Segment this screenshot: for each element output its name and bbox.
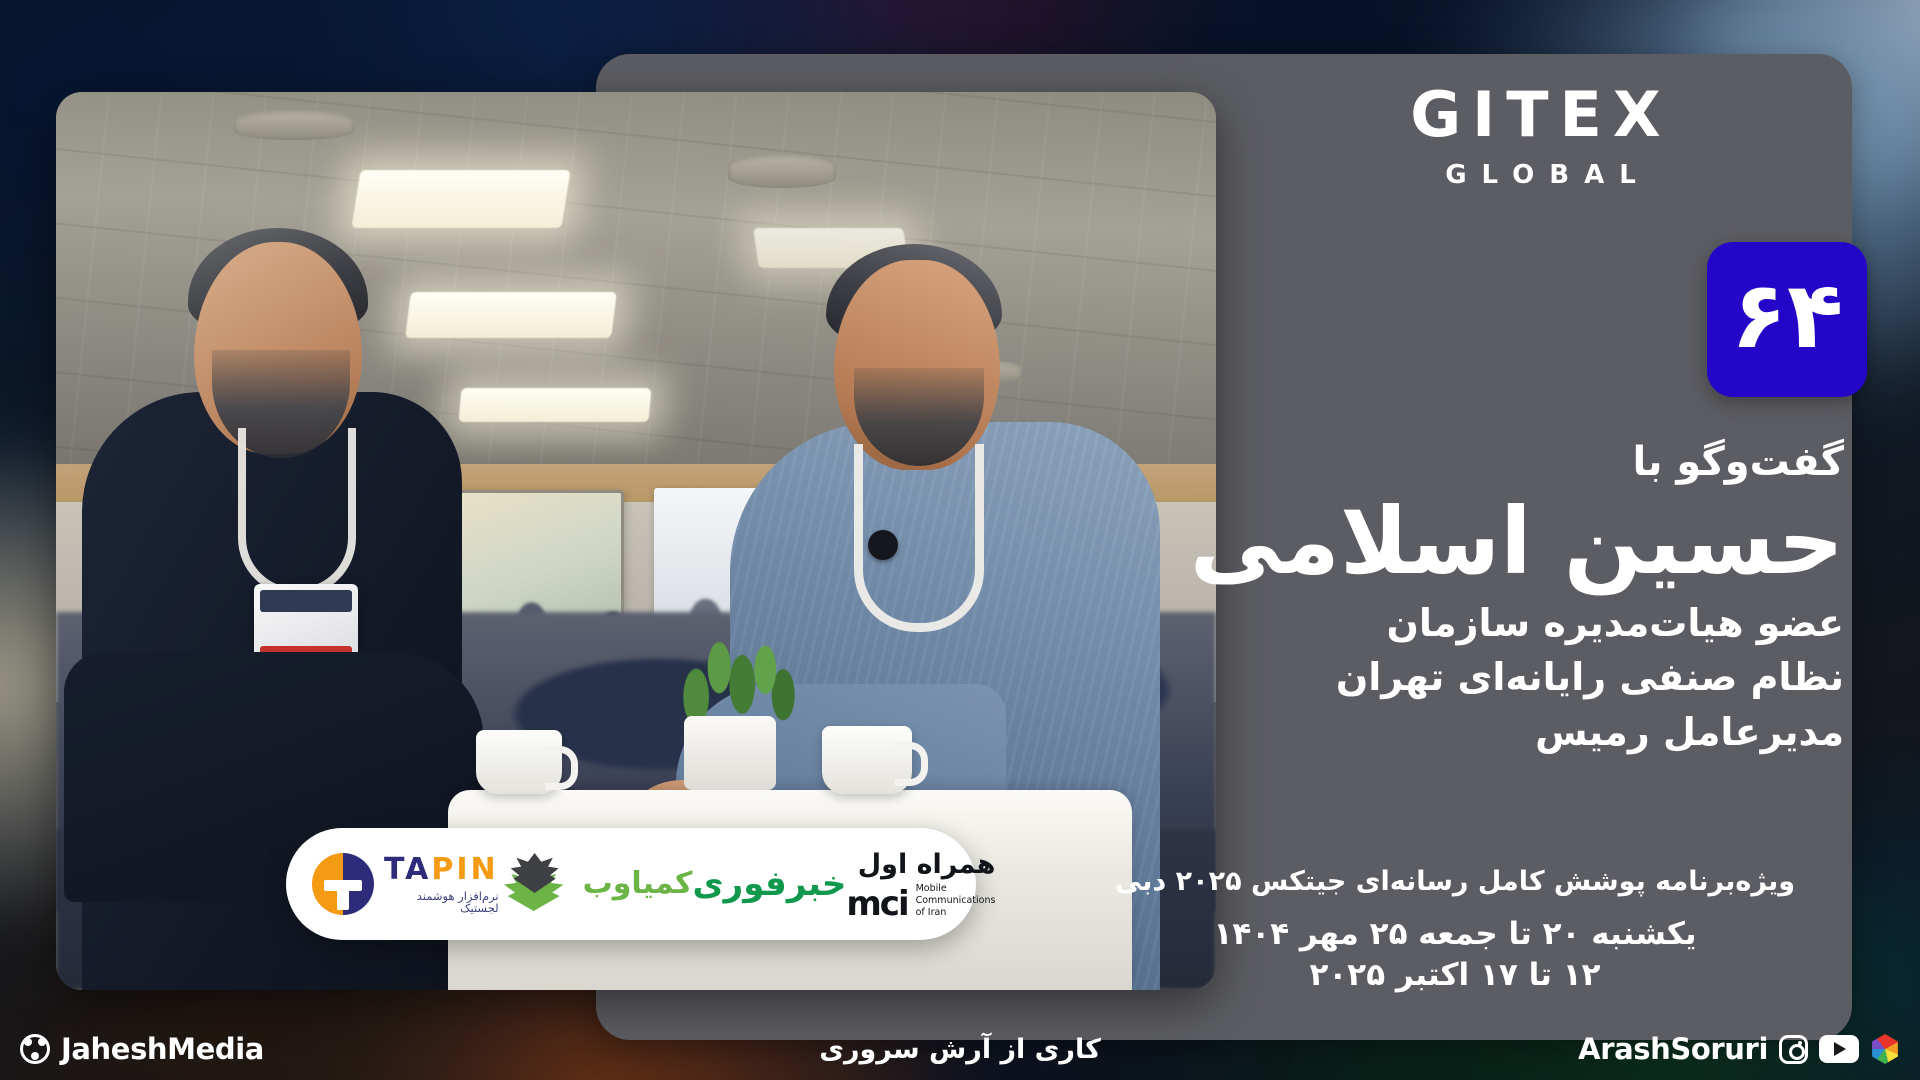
footer-social[interactable]: ArashSoruri — [1578, 1032, 1900, 1066]
sponsor-tapin[interactable]: TAPIN نرم‌افزار هوشمند لجستیک — [312, 853, 499, 915]
gitex-global-subtext: GLOBAL — [1376, 160, 1706, 190]
aparat-icon[interactable] — [1870, 1034, 1900, 1064]
footer-brand-label: JaheshMedia — [61, 1032, 264, 1066]
episode-number: ۶۴ — [1731, 262, 1843, 369]
photo-ceiling-lamp — [459, 388, 652, 422]
schedule-line-3: ۱۲ تا ۱۷ اکتبر ۲۰۲۵ — [1070, 955, 1840, 995]
photo-plant — [668, 624, 796, 728]
photo-ceiling-vent — [234, 110, 354, 140]
mci-sub-line-1: Mobile — [916, 883, 996, 895]
gitex-wordmark: GITEX — [1376, 84, 1706, 146]
guest-role-line-3: مدیرعامل رمیس — [1084, 706, 1844, 758]
film-reel-icon — [20, 1034, 50, 1064]
photo-person-left-lanyard — [238, 428, 356, 596]
sponsor-mci[interactable]: همراه اول mci Mobile Communications of I… — [846, 849, 995, 919]
poster-stage: TAPIN نرم‌افزار هوشمند لجستیک کمیاوب خبر… — [0, 0, 1920, 1080]
guest-info-block: گفت‌وگو با حسین اسلامی عضو هیات‌مدیره سا… — [1084, 440, 1844, 758]
sponsor-gostaresh[interactable]: کمیاوب — [499, 849, 693, 919]
interview-kicker: گفت‌وگو با — [1084, 440, 1844, 484]
photo-ceiling-vent — [728, 154, 836, 188]
khabarfouri-wordmark: خبرفوری — [693, 867, 847, 901]
mci-wordmark-en: mci — [846, 890, 907, 919]
photo-coffee-cup — [822, 726, 912, 794]
maple-leaf-icon — [499, 849, 573, 919]
instagram-icon[interactable] — [1779, 1035, 1808, 1064]
photo-ceiling-lamp — [405, 292, 617, 338]
photo-ceiling-lamp — [351, 170, 570, 228]
mci-sub-line-3: of Iran — [916, 907, 996, 919]
tapin-word-b: PIN — [431, 852, 498, 887]
guest-name: حسین اسلامی — [1084, 490, 1844, 595]
youtube-icon[interactable] — [1819, 1035, 1859, 1063]
footer-brand-left[interactable]: JaheshMedia — [20, 1032, 264, 1066]
tapin-tagline: نرم‌افزار هوشمند لجستیک — [384, 890, 499, 914]
schedule-block: ویژه‌برنامه پوشش کامل رسانه‌ای جیتکس ۲۰۲… — [1070, 866, 1840, 995]
guest-role-line-2: نظام صنفی رایانه‌ای تهران — [1084, 651, 1844, 703]
mci-wordmark-fa: همراه اول — [846, 849, 995, 880]
sponsor-bar: TAPIN نرم‌افزار هوشمند لجستیک کمیاوب خبر… — [286, 828, 976, 940]
photo-coffee-cup — [476, 730, 562, 794]
photo-person-right-microphone — [868, 530, 898, 560]
episode-number-badge: ۶۴ — [1707, 242, 1867, 397]
sponsor-khabarfouri[interactable]: خبرفوری — [693, 867, 847, 901]
gitex-global-logo: GITEX GLOBAL — [1376, 84, 1706, 190]
footer-handle: ArashSoruri — [1578, 1032, 1768, 1066]
schedule-line-1: ویژه‌برنامه پوشش کامل رسانه‌ای جیتکس ۲۰۲… — [1070, 866, 1840, 898]
tapin-logo-icon — [312, 853, 374, 915]
guest-role-line-1: عضو هیات‌مدیره سازمان — [1084, 597, 1844, 649]
schedule-line-2: یکشنبه ۲۰ تا جمعه ۲۵ مهر ۱۴۰۴ — [1070, 914, 1840, 954]
photo-plant-pot — [684, 716, 776, 790]
gostaresh-wordmark: کمیاوب — [583, 869, 693, 899]
mci-sub-line-2: Communications — [916, 895, 996, 907]
footer-bar: JaheshMedia کاری از آرش سروری ArashSorur… — [0, 1040, 1920, 1080]
footer-credit: کاری از آرش سروری — [819, 1034, 1101, 1065]
tapin-word-a: TA — [384, 852, 431, 887]
